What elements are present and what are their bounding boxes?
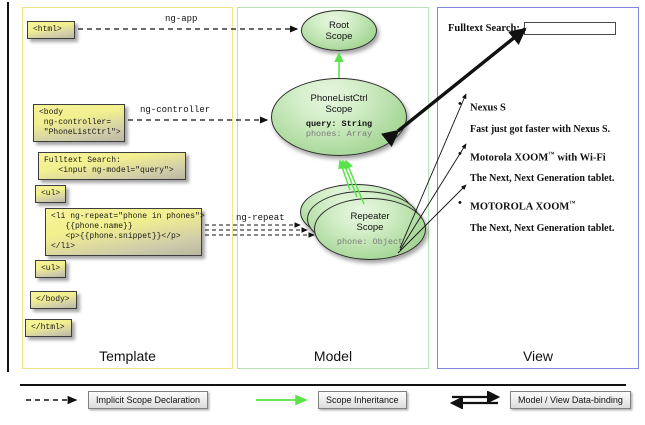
phone-name-text: Motorola XOOM <box>470 152 548 163</box>
phone-snippet: Fast just got faster with Nexus S. <box>454 123 632 136</box>
view-search-row: Fulltext Search: <box>448 22 616 35</box>
scope-ctrl-title-1: PhoneListCtrl <box>310 93 367 104</box>
list-item: Motorola XOOM™ with Wi-Fi The Next, Next… <box>454 148 632 186</box>
phone-name: Nexus S <box>454 98 632 116</box>
connector-label-ng-repeat: ng-repeat <box>236 213 285 223</box>
scope-ctrl-prop-query: query: String <box>272 119 406 129</box>
scope-root-title-1: Root <box>329 20 349 31</box>
scope-root: Root Scope <box>301 10 377 51</box>
diagram-canvas: Template Model View <html> <body ng-cont… <box>0 0 645 425</box>
view-rendered-page: Fulltext Search: Nexus S Fast just got f… <box>444 14 633 361</box>
phone-name-suffix: with Wi-Fi <box>555 152 606 163</box>
green-arrow-icon <box>252 391 314 409</box>
legend-label-model-view-data-binding: Model / View Data-binding <box>510 391 631 409</box>
dashed-arrow-icon <box>22 391 84 409</box>
legend-item-scope-inheritance: Scope Inheritance <box>252 389 407 411</box>
phone-snippet: The Next, Next Generation tablet. <box>454 172 632 185</box>
connector-label-ng-app: ng-app <box>165 14 197 24</box>
scope-repeater-title-1: Repeater <box>350 211 389 222</box>
legend-label-scope-inheritance: Scope Inheritance <box>318 391 407 409</box>
scope-repeater: Repeater Scope phone: Object <box>314 198 426 260</box>
scope-phonelistctrl: PhoneListCtrl Scope query: String phones… <box>271 78 407 156</box>
list-item: MOTOROLA XOOM™ The Next, Next Generation… <box>454 197 632 235</box>
connector-label-ng-controller: ng-controller <box>140 105 210 115</box>
scope-ctrl-title-2: Scope <box>326 104 353 115</box>
view-search-input[interactable] <box>524 22 616 35</box>
scope-repeater-prop-phone: phone: Object <box>315 237 425 247</box>
panel-label-model: Model <box>238 348 428 364</box>
double-arrow-icon <box>444 391 506 409</box>
code-box-body-tag: <body ng-controller= "PhoneListCtrl"> <box>33 104 125 142</box>
phone-name: MOTOROLA XOOM™ <box>454 197 632 215</box>
scope-ctrl-prop-phones: phones: Array <box>272 129 406 139</box>
code-box-body-close: </body> <box>30 291 77 309</box>
phone-name-text: MOTOROLA XOOM <box>470 202 569 213</box>
legend-item-implicit-scope-declaration: Implicit Scope Declaration <box>22 389 208 411</box>
legend-label-implicit-scope-declaration: Implicit Scope Declaration <box>88 391 208 409</box>
code-box-ul-close: <ul> <box>35 260 66 278</box>
view-phone-list: Nexus S Fast just got faster with Nexus … <box>454 98 632 247</box>
panel-label-template: Template <box>23 348 232 364</box>
code-box-li-repeat: <li ng-repeat="phone in phones"> {{phone… <box>45 208 202 256</box>
phone-name: Motorola XOOM™ with Wi-Fi <box>454 148 632 166</box>
view-search-label: Fulltext Search: <box>448 23 520 34</box>
scope-repeater-title-2: Scope <box>357 222 384 233</box>
trademark-icon: ™ <box>569 200 576 207</box>
code-box-html-tag: <html> <box>27 21 75 39</box>
code-box-ul-open: <ul> <box>35 185 66 203</box>
code-box-search-input: Fulltext Search: <input ng-model="query"… <box>38 152 186 180</box>
legend-divider <box>20 384 626 386</box>
code-box-html-close: </html> <box>25 319 72 337</box>
legend-item-model-view-data-binding: Model / View Data-binding <box>444 389 631 411</box>
left-margin-rule <box>7 2 9 372</box>
list-item: Nexus S Fast just got faster with Nexus … <box>454 98 632 136</box>
phone-name-text: Nexus S <box>470 103 506 114</box>
scope-root-title-2: Scope <box>326 31 353 42</box>
phone-snippet: The Next, Next Generation tablet. <box>454 222 632 235</box>
